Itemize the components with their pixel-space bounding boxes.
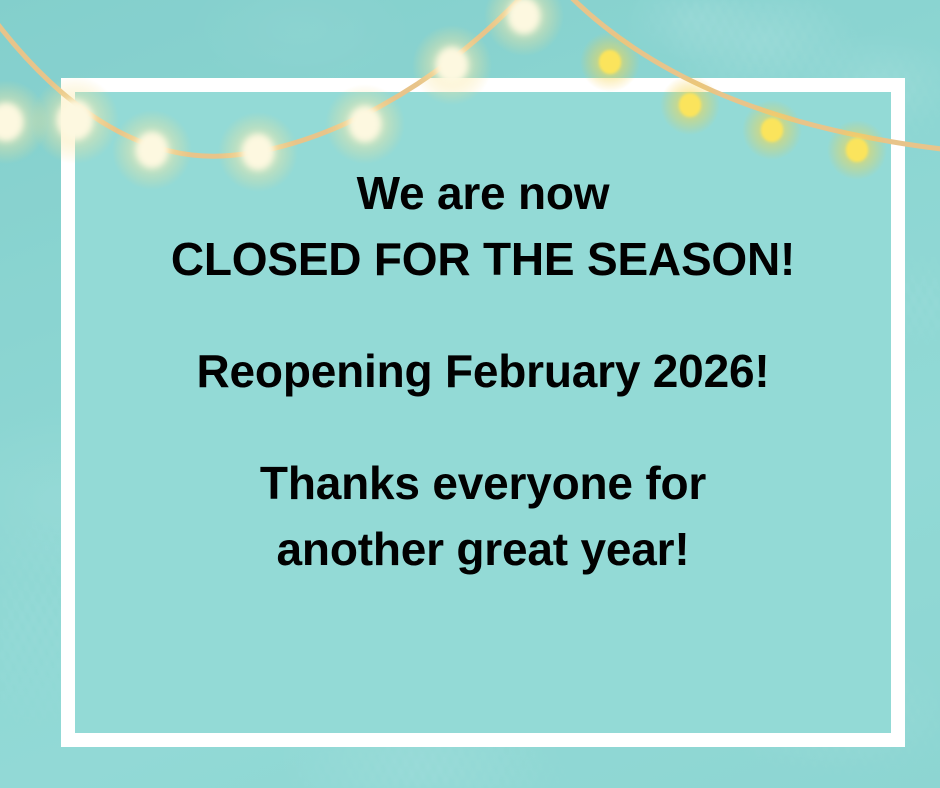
message-line-5: another great year! [277, 526, 690, 572]
message-line-3: Reopening February 2026! [197, 348, 770, 394]
message-block: We are now CLOSED FOR THE SEASON! Reopen… [75, 92, 891, 733]
message-line-2: CLOSED FOR THE SEASON! [171, 236, 795, 282]
closed-for-season-poster: We are now CLOSED FOR THE SEASON! Reopen… [0, 0, 940, 788]
message-line-4: Thanks everyone for [260, 460, 706, 506]
message-line-1: We are now [357, 170, 610, 216]
